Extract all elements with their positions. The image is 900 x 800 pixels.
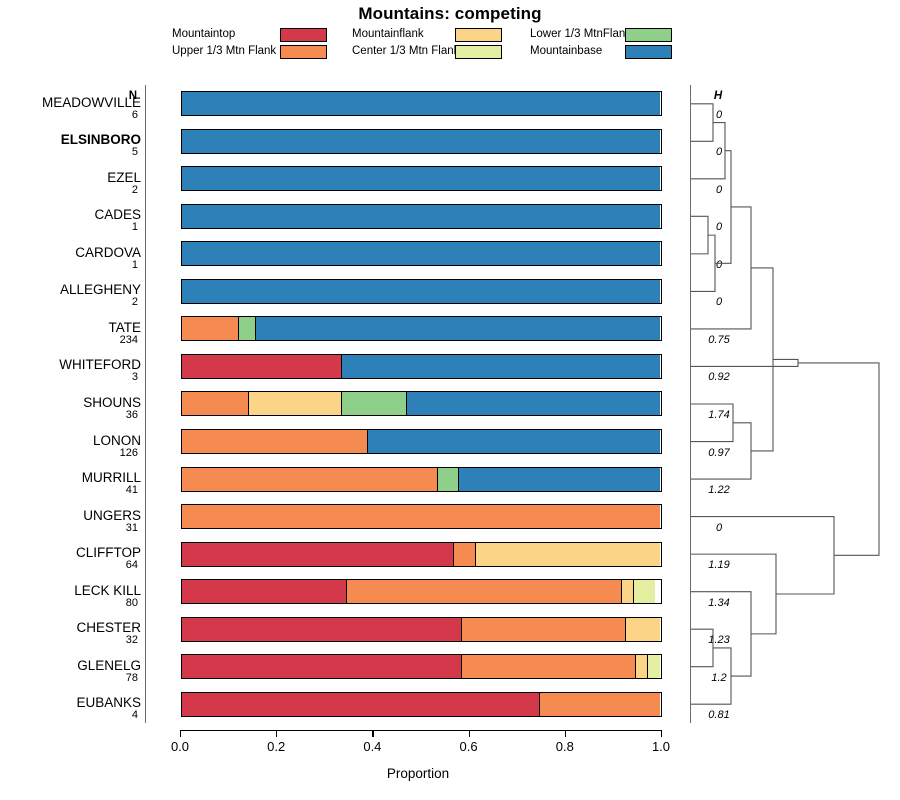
- chart-row: CLIFFTOP641.19: [146, 535, 692, 573]
- dendrogram: [691, 85, 900, 723]
- chart-row: EZEL20: [146, 160, 692, 198]
- stacked-bar: [181, 692, 662, 717]
- row-label: CARDOVA: [1, 246, 141, 260]
- stacked-bar: [181, 129, 662, 154]
- x-axis-tick: [661, 730, 662, 737]
- stacked-bar: [181, 617, 662, 642]
- row-label: MURRILL: [1, 471, 141, 485]
- row-label: WHITEFORD: [1, 358, 141, 372]
- legend-swatch: [625, 45, 672, 59]
- bar-segment: [626, 618, 659, 641]
- chart-row: LONON1260.97: [146, 423, 692, 461]
- row-n-value: 6: [106, 109, 138, 121]
- chart-row: EUBANKS40.81: [146, 685, 692, 723]
- bar-segment: [459, 468, 660, 491]
- dendrogram-branch: [751, 268, 773, 451]
- x-axis-tick-label: 0.2: [246, 739, 306, 754]
- bar-segment: [462, 618, 627, 641]
- row-n-value: 1: [106, 259, 138, 271]
- stacked-bar: [181, 166, 662, 191]
- bar-segment: [182, 543, 454, 566]
- stacked-bars-area: MEADOWVILLE60ELSINBORO50EZEL20CADES10CAR…: [146, 85, 692, 723]
- row-n-value: 3: [106, 371, 138, 383]
- x-axis-tick-label: 0.6: [439, 739, 499, 754]
- legend-label: Mountainbase: [530, 45, 602, 57]
- legend-label: Mountainflank: [352, 28, 424, 40]
- x-axis: Proportion 0.00.20.40.60.81.0: [145, 723, 691, 783]
- x-axis-tick-label: 0.8: [535, 739, 595, 754]
- row-n-value: 4: [106, 709, 138, 721]
- x-axis-tick: [469, 730, 470, 737]
- chart-row: CARDOVA10: [146, 235, 692, 273]
- dendrogram-branch: [691, 423, 751, 479]
- bar-segment: [182, 618, 462, 641]
- bar-segment: [182, 693, 540, 716]
- x-axis-tick: [180, 730, 181, 737]
- legend-label: Lower 1/3 MtnFlank: [530, 28, 631, 40]
- bar-segment: [182, 355, 342, 378]
- dendrogram-branch: [691, 104, 713, 142]
- row-n-value: 64: [106, 559, 138, 571]
- x-axis-tick-label: 1.0: [631, 739, 691, 754]
- bar-segment: [462, 655, 636, 678]
- stacked-bar: [181, 204, 662, 229]
- dendrogram-branch: [691, 592, 751, 676]
- row-n-value: 2: [106, 296, 138, 308]
- stacked-bar: [181, 504, 662, 529]
- stacked-bar: [181, 467, 662, 492]
- row-label: ALLEGHENY: [1, 283, 141, 297]
- row-label: EZEL: [1, 171, 141, 185]
- chart-row: ALLEGHENY20: [146, 273, 692, 311]
- stacked-bar: [181, 654, 662, 679]
- bar-segment: [182, 280, 660, 303]
- bar-segment: [182, 580, 347, 603]
- row-label: CHESTER: [1, 621, 141, 635]
- page-title: Mountains: competing: [0, 4, 900, 24]
- row-n-value: 32: [106, 634, 138, 646]
- bar-segment: [368, 430, 659, 453]
- dendrogram-branch: [798, 363, 879, 555]
- stacked-bar: [181, 241, 662, 266]
- chart-row: CADES10: [146, 198, 692, 236]
- bar-segment: [407, 392, 660, 415]
- chart-row: UNGERS310: [146, 498, 692, 536]
- chart-row: SHOUNS361.74: [146, 385, 692, 423]
- row-n-value: 5: [106, 146, 138, 158]
- row-n-value: 1: [106, 221, 138, 233]
- dendrogram-branch: [691, 517, 834, 594]
- row-label: EUBANKS: [1, 696, 141, 710]
- legend-swatch: [280, 28, 327, 42]
- legend-swatch: [625, 28, 672, 42]
- row-label: UNGERS: [1, 509, 141, 523]
- legend-swatch: [280, 45, 327, 59]
- stacked-bar: [181, 279, 662, 304]
- bar-segment: [182, 317, 239, 340]
- chart-row: GLENELG781.2: [146, 648, 692, 686]
- row-label: GLENELG: [1, 659, 141, 673]
- x-axis-label: Proportion: [145, 766, 691, 781]
- bar-segment: [182, 468, 438, 491]
- row-n-value: 41: [106, 484, 138, 496]
- dendrogram-branch: [691, 629, 713, 667]
- stacked-bar: [181, 316, 662, 341]
- dendrogram-branch: [691, 404, 733, 442]
- chart-row: MEADOWVILLE60: [146, 85, 692, 123]
- bar-segment: [182, 430, 368, 453]
- dendrogram-branch: [691, 207, 751, 329]
- stacked-bar: [181, 579, 662, 604]
- row-n-value: 126: [106, 447, 138, 459]
- legend-label: Upper 1/3 Mtn Flank: [172, 45, 276, 57]
- row-n-value: 78: [106, 672, 138, 684]
- row-label: LONON: [1, 434, 141, 448]
- bar-segment: [342, 355, 660, 378]
- legend-label: Mountaintop: [172, 28, 235, 40]
- row-label: CLIFFTOP: [1, 546, 141, 560]
- x-axis-tick: [565, 730, 566, 737]
- legend-swatch: [455, 45, 502, 59]
- stacked-bar: [181, 91, 662, 116]
- chart-row: ELSINBORO50: [146, 123, 692, 161]
- x-axis-tick: [276, 730, 277, 737]
- dendrogram-branch: [691, 216, 708, 254]
- x-axis-line: [180, 730, 661, 731]
- x-axis-tick: [372, 730, 373, 737]
- dendrogram-branch: [691, 648, 731, 704]
- bar-segment: [182, 242, 660, 265]
- dendrogram-branch: [715, 151, 731, 264]
- row-label: SHOUNS: [1, 396, 141, 410]
- row-n-value: 36: [106, 409, 138, 421]
- legend: MountaintopUpper 1/3 Mtn FlankMountainfl…: [172, 27, 672, 61]
- row-label: LECK KILL: [1, 584, 141, 598]
- dendrogram-branch: [691, 235, 715, 291]
- row-n-value: 80: [106, 597, 138, 609]
- bar-segment: [182, 505, 660, 528]
- stacked-bar: [181, 429, 662, 454]
- bar-segment: [648, 655, 660, 678]
- row-n-value: 2: [106, 184, 138, 196]
- bar-segment: [622, 580, 634, 603]
- chart-root: Mountains: competing MountaintopUpper 1/…: [0, 0, 900, 800]
- stacked-bar: [181, 354, 662, 379]
- bar-segment: [182, 205, 660, 228]
- chart-row: TATE2340.75: [146, 310, 692, 348]
- chart-row: MURRILL411.22: [146, 460, 692, 498]
- stacked-bar: [181, 542, 662, 567]
- dendrogram-branch: [691, 123, 725, 179]
- plot-panel: MEADOWVILLE60ELSINBORO50EZEL20CADES10CAR…: [145, 85, 691, 723]
- bar-segment: [540, 693, 659, 716]
- stacked-bar: [181, 391, 662, 416]
- bar-segment: [438, 468, 460, 491]
- row-label: ELSINBORO: [1, 133, 141, 147]
- row-n-value: 31: [106, 522, 138, 534]
- bar-segment: [182, 92, 660, 115]
- bar-segment: [182, 167, 660, 190]
- x-axis-tick-label: 0.4: [342, 739, 402, 754]
- chart-row: WHITEFORD30.92: [146, 348, 692, 386]
- bar-segment: [256, 317, 660, 340]
- x-axis-tick-label: 0.0: [150, 739, 210, 754]
- row-n-value: 234: [106, 334, 138, 346]
- bar-segment: [454, 543, 476, 566]
- chart-row: CHESTER321.23: [146, 610, 692, 648]
- bar-segment: [636, 655, 648, 678]
- bar-segment: [182, 130, 660, 153]
- dendrogram-svg: [691, 85, 900, 723]
- bar-segment: [476, 543, 660, 566]
- row-label: MEADOWVILLE: [1, 96, 141, 110]
- row-label: TATE: [1, 321, 141, 335]
- chart-row: LECK KILL801.34: [146, 573, 692, 611]
- bar-segment: [347, 580, 622, 603]
- bar-segment: [634, 580, 656, 603]
- bar-segment: [182, 655, 462, 678]
- legend-label: Center 1/3 Mtn Flank: [352, 45, 459, 57]
- dendrogram-branch: [691, 359, 798, 366]
- dendrogram-branch: [691, 554, 776, 634]
- bar-segment: [239, 317, 256, 340]
- bar-segment: [342, 392, 407, 415]
- bar-segment: [182, 392, 249, 415]
- bar-segment: [249, 392, 342, 415]
- row-label: CADES: [1, 208, 141, 222]
- legend-swatch: [455, 28, 502, 42]
